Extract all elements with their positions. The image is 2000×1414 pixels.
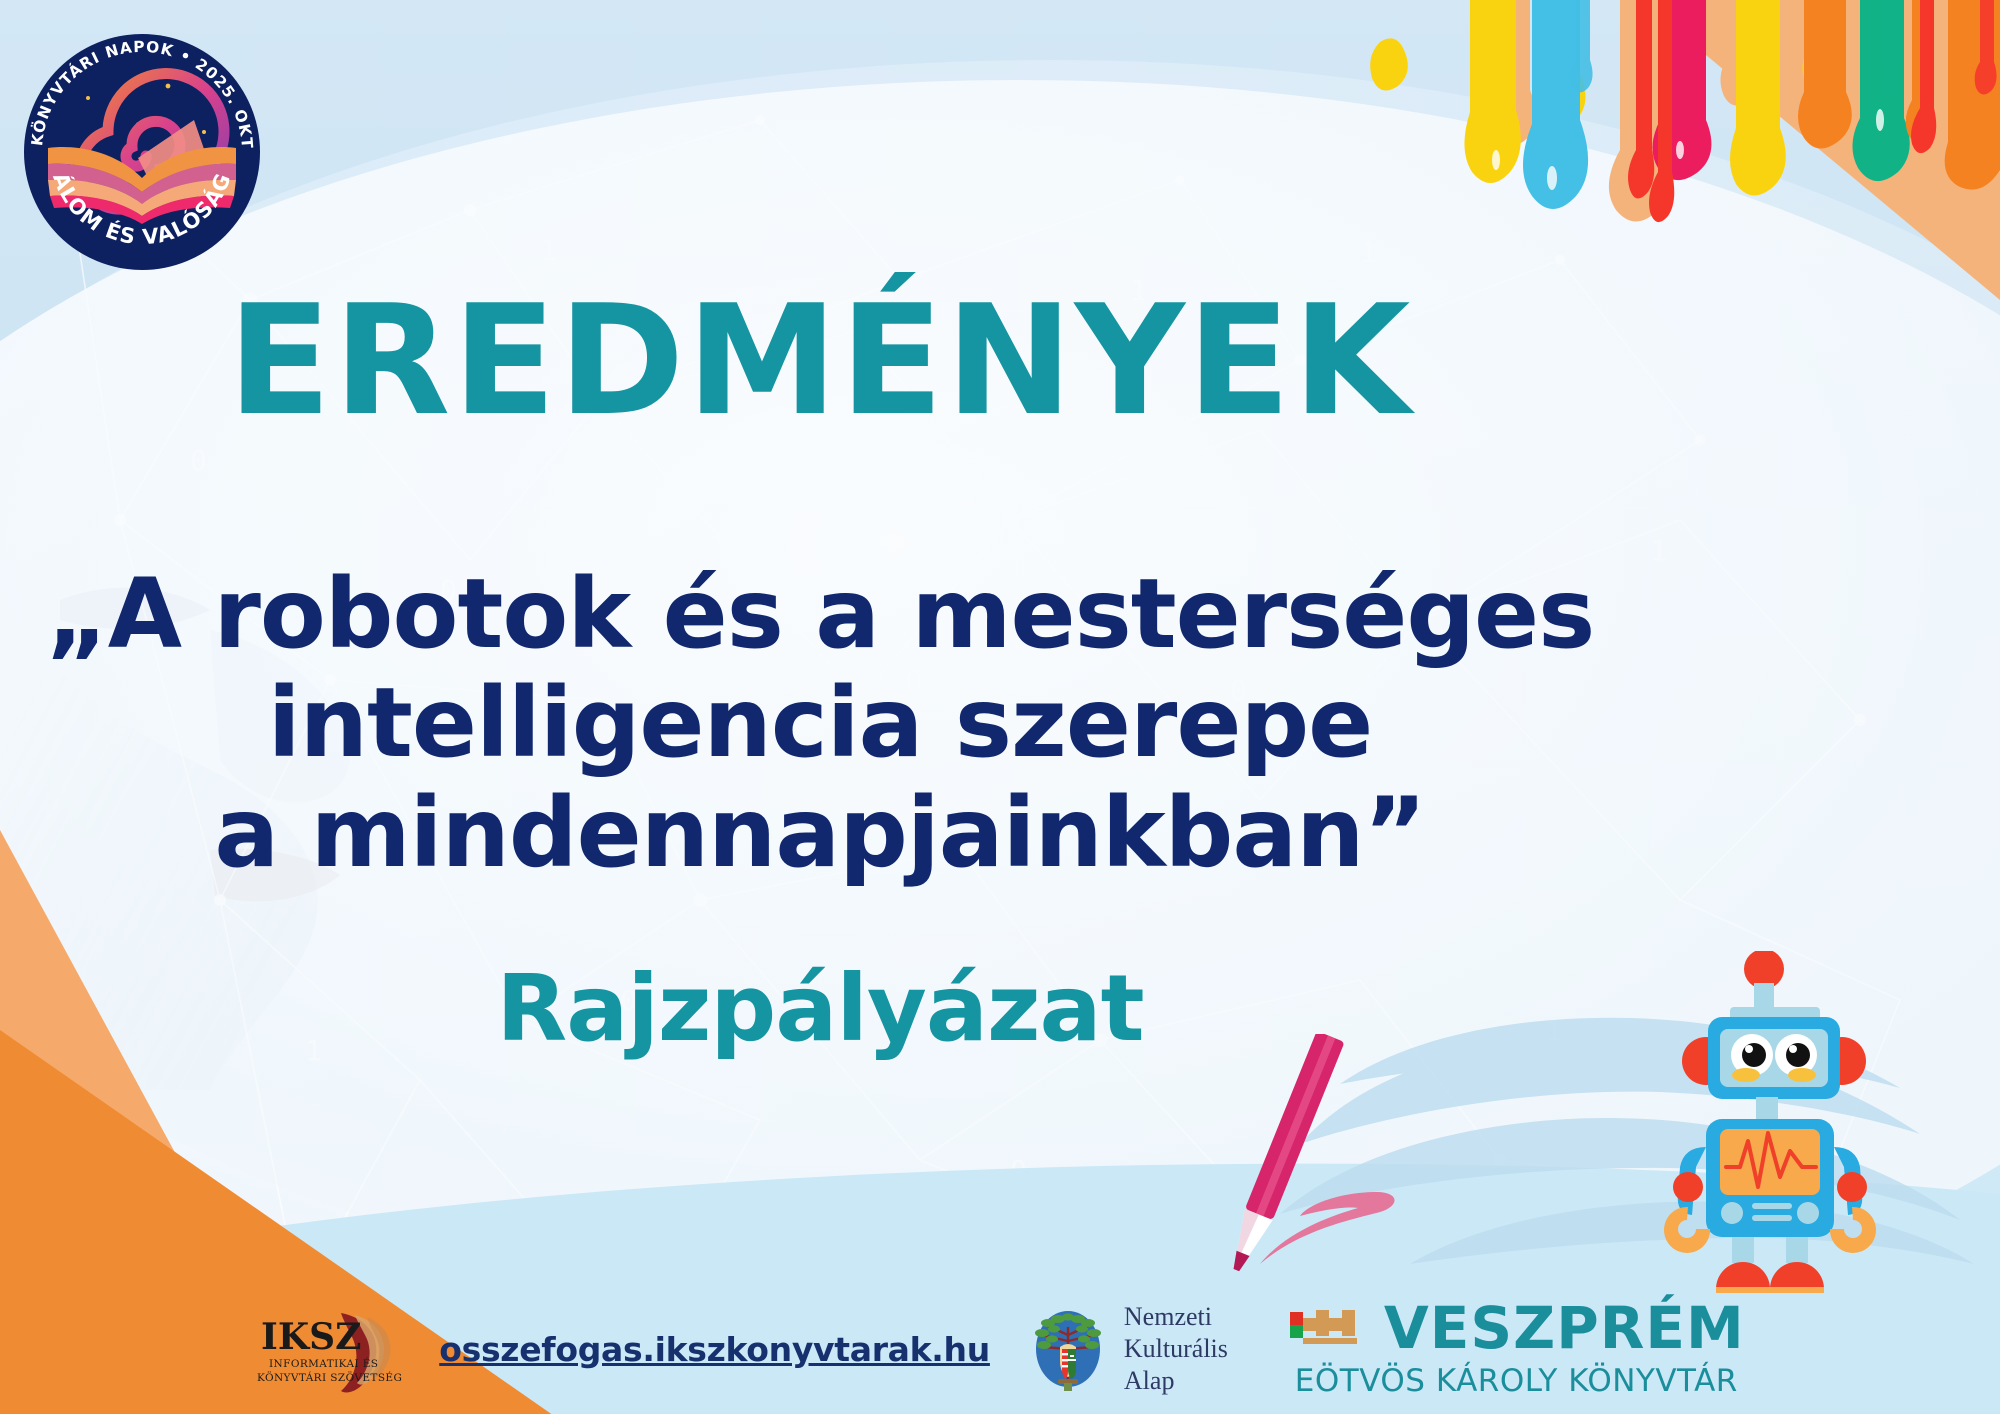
veszprem-logo: VESZPRÉM EÖTVÖS KÁROLY KÖNYVTÁR — [1288, 1299, 1745, 1399]
nka-tree-icon — [1024, 1301, 1112, 1397]
veszprem-name: VESZPRÉM — [1384, 1299, 1745, 1357]
iksz-line-2: KÖNYVTÁRI SZÖVETSÉG — [257, 1370, 402, 1384]
nka-line-3: Alap — [1124, 1365, 1228, 1397]
iksz-wordmark: IKSZ — [261, 1316, 361, 1358]
headline-block: EREDMÉNYEK — [0, 280, 1640, 441]
robot-icon — [1580, 951, 1910, 1296]
nka-line-2: Kulturális — [1124, 1333, 1228, 1365]
footer-url-link[interactable]: osszefogas.ikszkonyvtarak.hu — [439, 1330, 990, 1369]
pencil-icon — [1150, 1034, 1440, 1284]
subtitle-line-2: intelligencia szerepe — [0, 669, 1640, 778]
nka-logo: Nemzeti Kulturális Alap — [1024, 1301, 1228, 1397]
iksz-logo: IKSZ INFORMATIKAI ÉS KÖNYVTÁRI SZÖVETSÉG — [255, 1301, 405, 1397]
poster-canvas: 10 11 01 00 11 00 10 — [0, 0, 2000, 1414]
iksz-line-1: INFORMATIKAI ÉS — [269, 1356, 378, 1370]
subtitle-block: „A robotok és a mesterséges intelligenci… — [0, 560, 1640, 888]
subtitle-line-3: a mindennapjainkban” — [0, 779, 1640, 888]
page-title: EREDMÉNYEK — [0, 280, 1640, 441]
paint-drip-decoration-icon — [1280, 0, 2000, 230]
veszprem-subtitle: EÖTVÖS KÁROLY KÖNYVTÁR — [1295, 1363, 1738, 1399]
nka-text-block: Nemzeti Kulturális Alap — [1124, 1301, 1228, 1396]
okn-badge-logo: ORSZÁGOS KÖNYVTÁRI NAPOK • 2025. OKTÓBER… — [18, 28, 266, 276]
footer-bar: IKSZ INFORMATIKAI ÉS KÖNYVTÁRI SZÖVETSÉG… — [0, 1284, 2000, 1414]
subtitle-line-1: „A robotok és a mesterséges — [0, 560, 1640, 669]
veszprem-crown-icon — [1288, 1304, 1370, 1352]
veszprem-top-row: VESZPRÉM — [1288, 1299, 1745, 1357]
nka-line-1: Nemzeti — [1124, 1301, 1228, 1333]
